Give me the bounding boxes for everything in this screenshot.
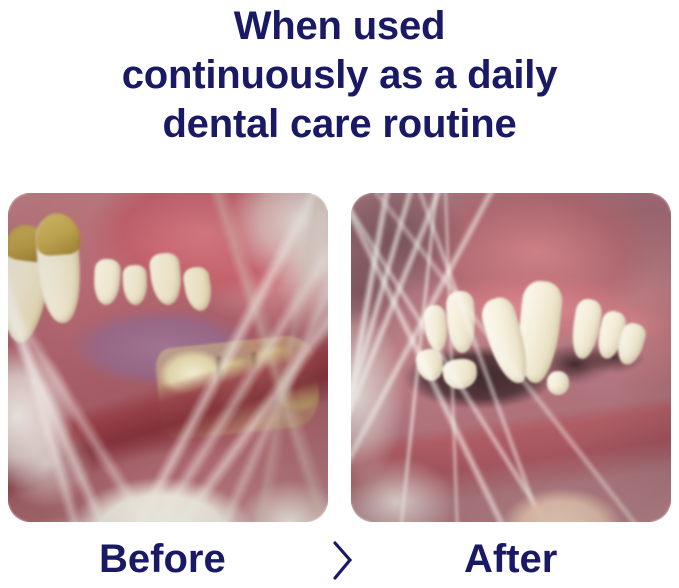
before-after-comparison	[0, 193, 679, 523]
caption-row: Before After	[0, 533, 679, 588]
after-label: After	[464, 533, 557, 585]
headline-line-3: dental care routine	[0, 100, 679, 149]
page-title: When used continuously as a daily dental…	[0, 2, 679, 149]
headline-line-1: When used	[0, 2, 679, 51]
before-photo	[8, 193, 328, 522]
before-label: Before	[99, 533, 226, 585]
before-photo-softening	[8, 193, 328, 522]
chevron-right-icon	[327, 537, 357, 583]
headline-line-2: continuously as a daily	[0, 51, 679, 100]
after-photo-softening	[351, 193, 671, 522]
after-photo	[351, 193, 671, 522]
